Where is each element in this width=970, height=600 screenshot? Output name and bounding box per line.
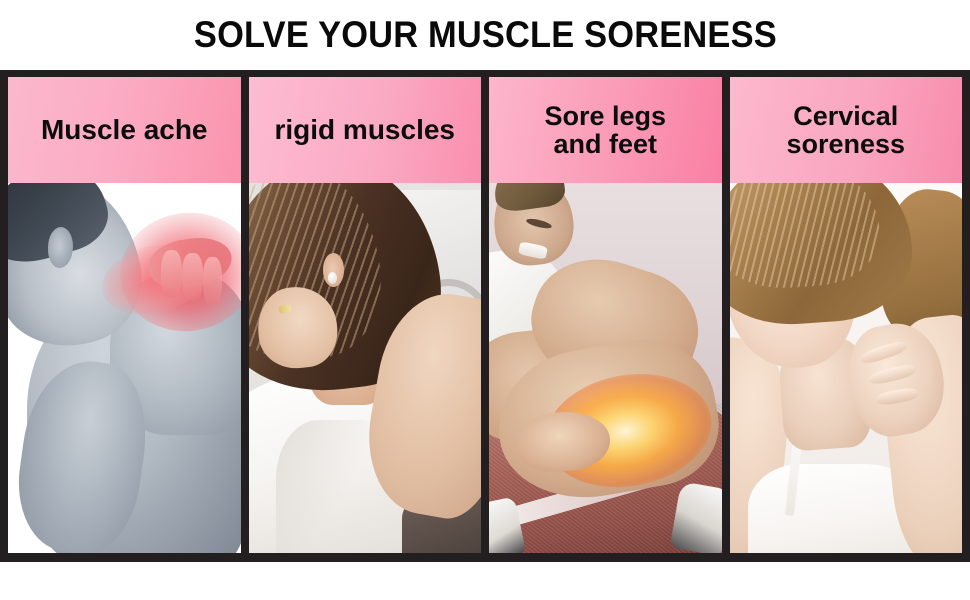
panel-3-photo-stage <box>489 183 722 553</box>
photo-man-finger <box>203 257 222 305</box>
photo-blouse-fold <box>276 420 383 553</box>
panel-3-photo <box>489 183 722 553</box>
panel-1-label: Muscle ache <box>35 115 214 144</box>
panel-cervical-soreness: Cervical soreness <box>730 77 963 553</box>
poster-root: SOLVE YOUR MUSCLE SORENESS Muscle ache <box>0 0 970 600</box>
photo-man-finger <box>161 250 182 298</box>
panel-sore-legs-and-feet: Sore legs and feet <box>489 77 722 553</box>
panel-2-caption-band: rigid muscles <box>249 77 482 183</box>
panel-4-label: Cervical soreness <box>780 102 911 158</box>
panel-strip-frame: Muscle ache <box>0 70 970 562</box>
panel-4-photo <box>730 183 963 553</box>
poster-title-bar: SOLVE YOUR MUSCLE SORENESS <box>0 0 970 68</box>
page-title: SOLVE YOUR MUSCLE SORENESS <box>194 16 777 53</box>
panel-3-caption-band: Sore legs and feet <box>489 77 722 183</box>
photo-woman-earring <box>328 272 338 284</box>
panel-1-photo-stage <box>8 183 241 553</box>
panel-2-photo <box>249 183 482 553</box>
panel-1-photo <box>8 183 241 553</box>
photo-man-finger <box>182 253 203 301</box>
panel-rigid-muscles: rigid muscles <box>249 77 482 553</box>
panel-3-label: Sore legs and feet <box>538 102 672 158</box>
panel-4-photo-stage <box>730 183 963 553</box>
panel-1-caption-band: Muscle ache <box>8 77 241 183</box>
panel-2-label: rigid muscles <box>268 115 461 144</box>
panel-muscle-ache: Muscle ache <box>8 77 241 553</box>
panel-4-caption-band: Cervical soreness <box>730 77 963 183</box>
panel-2-photo-stage <box>249 183 482 553</box>
